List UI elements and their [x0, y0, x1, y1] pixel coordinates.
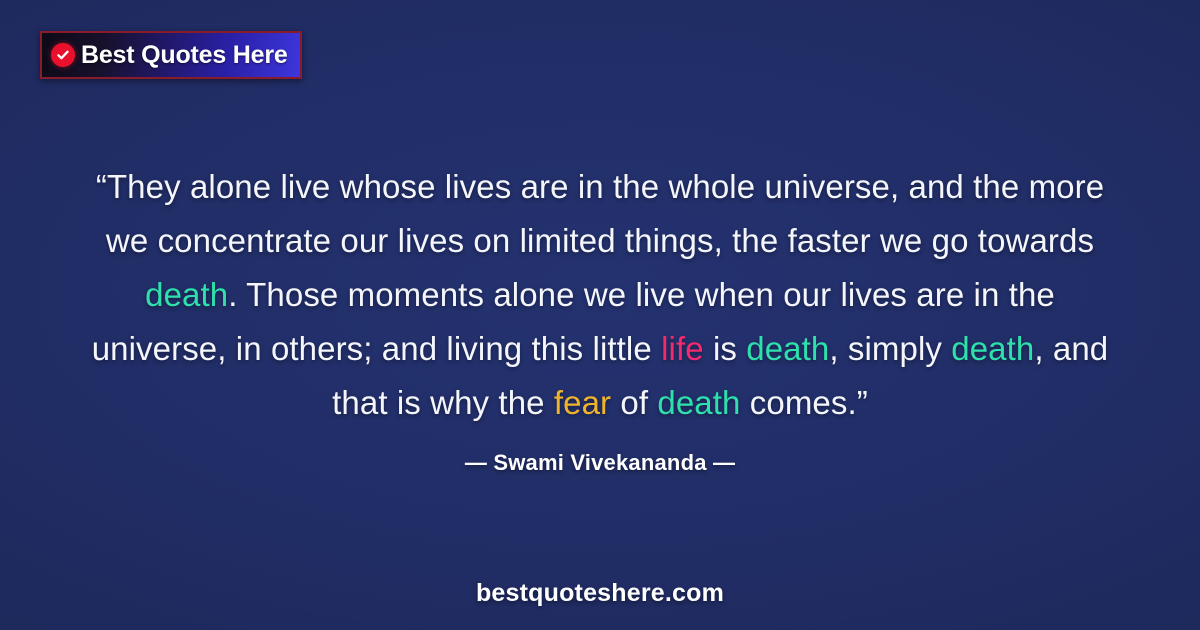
quote-author: — Swami Vivekananda —	[84, 450, 1116, 476]
quote-highlight-life: life	[661, 330, 704, 367]
check-circle-icon	[51, 43, 75, 67]
quote-highlight-death: death	[746, 330, 829, 367]
quote-highlight-death: death	[657, 384, 740, 421]
brand-name: Best Quotes Here	[81, 43, 288, 68]
footer-site-url: bestquoteshere.com	[0, 579, 1200, 608]
quote-poster: Best Quotes Here “They alone live whose …	[0, 0, 1200, 630]
quote-highlight-death: death	[951, 330, 1034, 367]
quote-text: “They alone live whose lives are in the …	[84, 160, 1116, 430]
brand-badge[interactable]: Best Quotes Here	[40, 31, 302, 79]
quote-block: “They alone live whose lives are in the …	[0, 160, 1200, 476]
quote-highlight-death: death	[145, 276, 228, 313]
quote-highlight-fear: fear	[554, 384, 611, 421]
